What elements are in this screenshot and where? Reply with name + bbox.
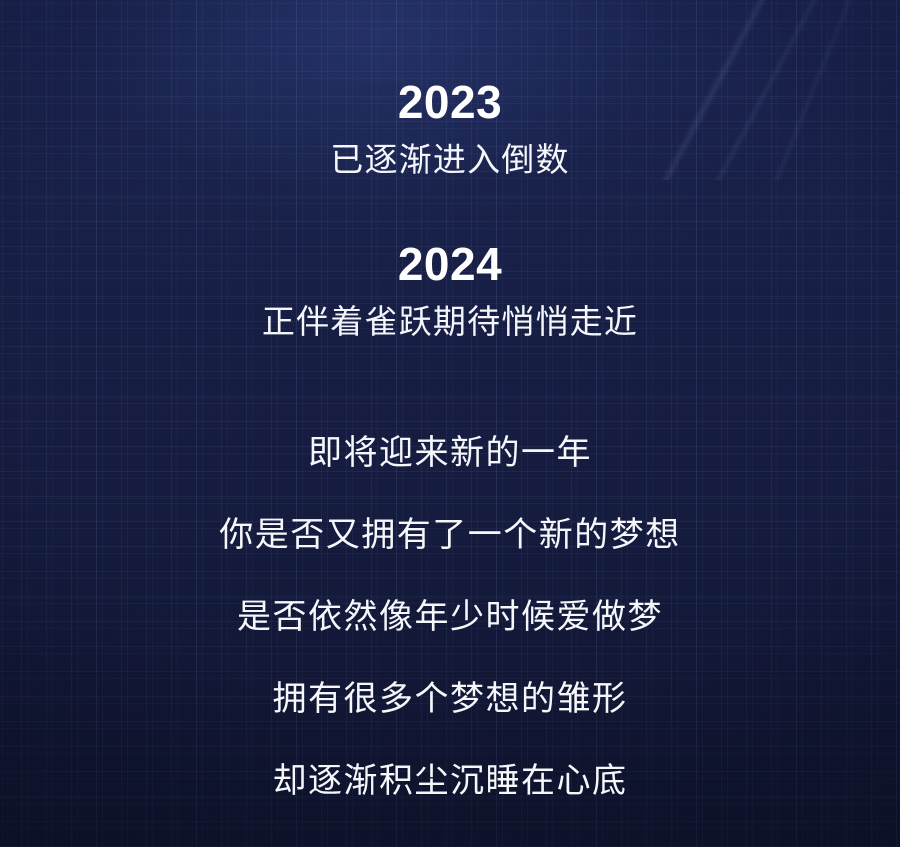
- body-line: 却逐渐积尘沉睡在心底: [0, 740, 900, 822]
- body-line: 你是否又拥有了一个新的梦想: [0, 494, 900, 576]
- year-heading-2024: 2024: [0, 240, 900, 288]
- year-block-2023: 2023 已逐渐进入倒数: [0, 78, 900, 181]
- year-heading-2023: 2023: [0, 78, 900, 126]
- body-line: 即将迎来新的一年: [0, 412, 900, 494]
- body-line: 拥有很多个梦想的雏形: [0, 658, 900, 740]
- body-line: 是否依然像年少时候爱做梦: [0, 576, 900, 658]
- poster-content: 2023 已逐渐进入倒数 2024 正伴着雀跃期待悄悄走近 即将迎来新的一年 你…: [0, 0, 900, 847]
- poster-canvas: 2023 已逐渐进入倒数 2024 正伴着雀跃期待悄悄走近 即将迎来新的一年 你…: [0, 0, 900, 847]
- body-text-block: 即将迎来新的一年 你是否又拥有了一个新的梦想 是否依然像年少时候爱做梦 拥有很多…: [0, 412, 900, 822]
- year-block-2024: 2024 正伴着雀跃期待悄悄走近: [0, 240, 900, 343]
- year-caption-2024: 正伴着雀跃期待悄悄走近: [0, 301, 900, 342]
- year-caption-2023: 已逐渐进入倒数: [0, 139, 900, 180]
